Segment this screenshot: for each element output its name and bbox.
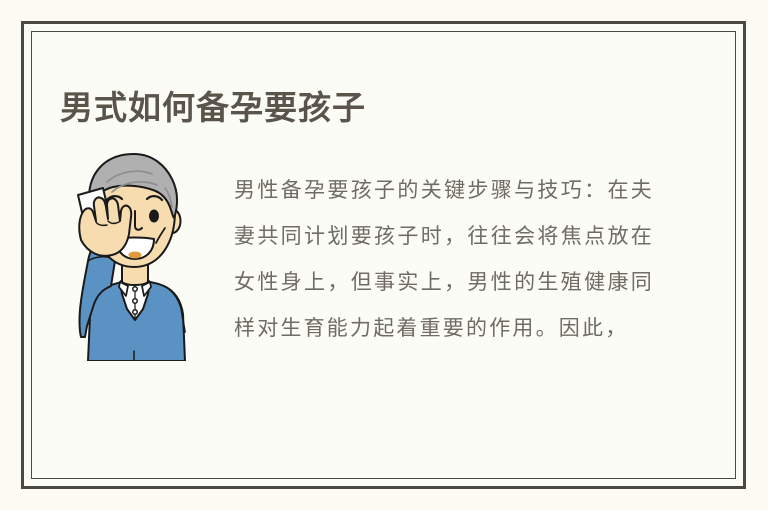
article-body-text: 男性备孕要孩子的关键步骤与技巧：在夫妻共同计划要孩子时，往往会将焦点放在女性身上… <box>234 167 654 351</box>
right-eye <box>149 210 159 223</box>
page-title: 男式如何备孕要孩子 <box>60 88 366 128</box>
tongue <box>129 252 142 259</box>
card-content: 男式如何备孕要孩子 <box>24 24 743 486</box>
shirt-button-top <box>133 287 138 292</box>
outer-frame-border: 男式如何备孕要孩子 <box>21 21 746 489</box>
elderly-man-on-phone-illustration <box>59 136 209 361</box>
article-card-page: 男式如何备孕要孩子 <box>0 0 768 510</box>
shirt-button-middle <box>133 299 138 304</box>
shirt-button-bottom <box>133 310 138 315</box>
